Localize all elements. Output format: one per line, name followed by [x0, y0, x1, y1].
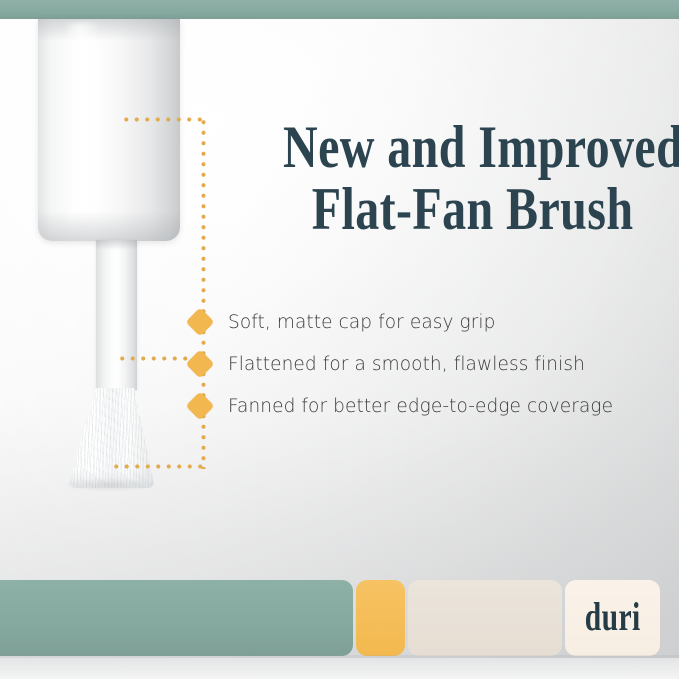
feature-list: Soft, matte cap for easy grip Flattened …	[190, 301, 660, 427]
diamond-bullet-icon	[186, 392, 214, 420]
diamond-bullet-icon	[186, 350, 214, 378]
headline-line-1: New and Improved	[283, 116, 587, 178]
cap-top-shading	[38, 19, 180, 41]
list-item: Flattened for a smooth, flawless finish	[190, 343, 660, 385]
diamond-bullet-icon	[186, 308, 214, 336]
bar-segment-amber	[356, 580, 405, 656]
bristle-drop-shadow	[62, 478, 158, 492]
list-item: Soft, matte cap for easy grip	[190, 301, 660, 343]
bar-segment-sage	[0, 580, 353, 656]
bar-segment-beige	[408, 580, 562, 656]
stem-top-shading	[96, 240, 137, 250]
product-feature-graphic: New and Improved Flat-Fan Brush Soft, ma…	[0, 0, 679, 679]
callout-line-top	[121, 117, 207, 122]
bottom-background-strip	[0, 658, 679, 679]
bar-segment-logo: duri	[565, 580, 660, 656]
list-item: Fanned for better edge-to-edge coverage	[190, 385, 660, 427]
list-item-label: Soft, matte cap for easy grip	[228, 312, 496, 333]
brand-logo: duri	[585, 597, 641, 639]
cap-highlight	[64, 23, 101, 227]
top-color-band	[0, 0, 679, 19]
page-title: New and Improved Flat-Fan Brush	[283, 116, 587, 240]
callout-line-bottom	[111, 464, 207, 469]
list-item-label: Flattened for a smooth, flawless finish	[228, 354, 585, 375]
headline-line-2: Flat-Fan Brush	[312, 178, 587, 240]
bottom-color-bar: duri	[0, 580, 679, 658]
list-item-label: Fanned for better edge-to-edge coverage	[228, 396, 613, 417]
brush-stem-image	[96, 240, 137, 390]
bottle-cap-image	[38, 19, 180, 241]
cap-bottom-shading	[38, 211, 180, 241]
